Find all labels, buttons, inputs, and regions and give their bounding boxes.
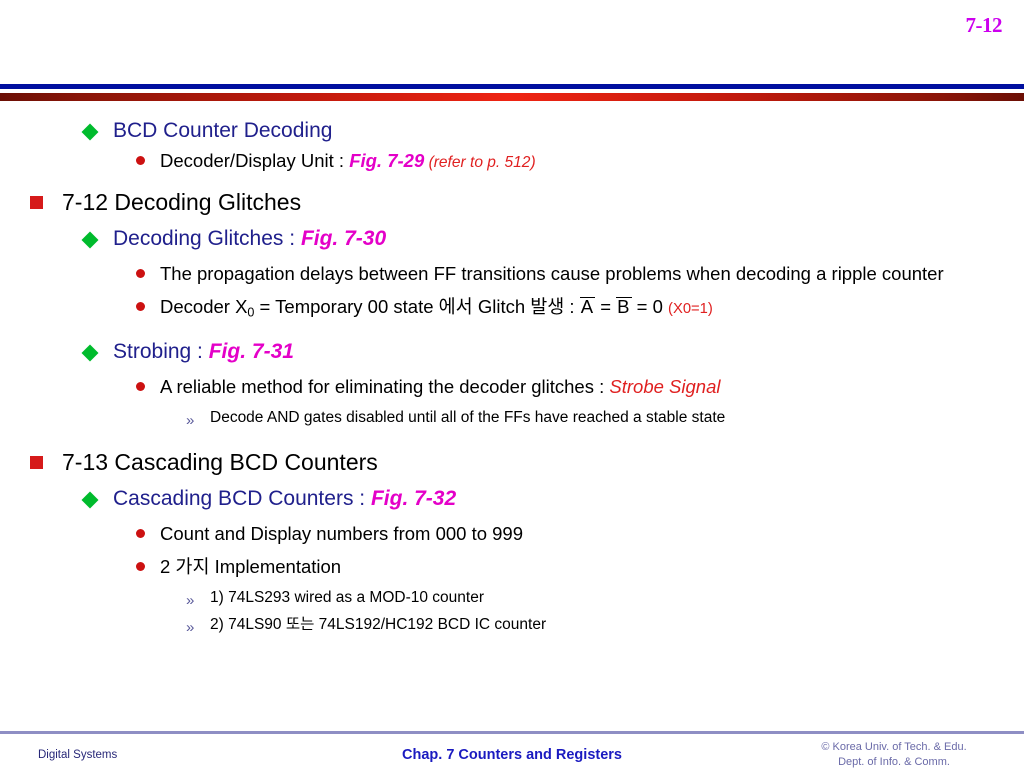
footer-copyright-line1: © Korea Univ. of Tech. & Edu. — [784, 740, 1004, 755]
reliable-method-lead: A reliable method for eliminating the de… — [160, 376, 609, 397]
diamond-bullet-icon — [84, 485, 113, 506]
decoding-glitches-lead: Decoding Glitches : — [113, 227, 301, 250]
bullet-text: Decoder X0 = Temporary 00 state 에서 Glitc… — [160, 294, 990, 326]
b-complement: B — [616, 297, 631, 317]
chevron-bullet-icon: » — [186, 587, 210, 611]
diamond-bullet-icon — [84, 338, 113, 359]
section-title-7-12: 7-12 Decoding Glitches — [62, 187, 1024, 217]
outline-subitem-label: Decoding Glitches : Fig. 7-30 — [113, 225, 1024, 253]
dot-bullet-icon — [136, 374, 160, 391]
decoder-x-lead: Decoder X — [160, 296, 247, 317]
strobing-lead: Strobing : — [113, 340, 209, 363]
square-bullet-icon — [30, 187, 62, 209]
dot-bullet-icon — [136, 294, 160, 311]
outline-item-bcd-counter-decoding: BCD Counter Decoding — [0, 117, 1024, 145]
decoder-x-mid: = Temporary 00 state 에서 Glitch 발생 : — [254, 296, 579, 317]
diamond-bullet-icon — [84, 225, 113, 246]
detail-text: 1) 74LS293 wired as a MOD-10 counter — [210, 587, 1024, 608]
chevron-bullet-icon: » — [186, 614, 210, 638]
outline-bullet-reliable-method: A reliable method for eliminating the de… — [0, 374, 1024, 399]
dot-bullet-icon — [136, 148, 160, 165]
outline-subitem-label: Decoder/Display Unit : Fig. 7-29 (refer … — [160, 148, 990, 175]
outline-bullet-propagation-delays: The propagation delays between FF transi… — [0, 261, 1024, 286]
dot-bullet-icon — [136, 261, 160, 278]
outline-subitem-decoding-glitches: Decoding Glitches : Fig. 7-30 — [0, 225, 1024, 253]
outline-bullet-two-implementations: 2 가지 Implementation — [0, 554, 1024, 579]
outline-subitem-cascading-bcd-counters: Cascading BCD Counters : Fig. 7-32 — [0, 485, 1024, 513]
refer-page-512: (refer to p. 512) — [429, 154, 536, 171]
outline-subitem-strobing: Strobing : Fig. 7-31 — [0, 338, 1024, 366]
bullet-text: The propagation delays between FF transi… — [160, 261, 990, 286]
outline-detail-74ls293: » 1) 74LS293 wired as a MOD-10 counter — [0, 587, 1024, 611]
outline-bullet-decoder-x0: Decoder X0 = Temporary 00 state 에서 Glitc… — [0, 294, 1024, 326]
section-title-7-13: 7-13 Cascading BCD Counters — [62, 447, 1024, 477]
figure-reference-7-29: Fig. 7-29 — [349, 150, 424, 171]
figure-reference-7-32: Fig. 7-32 — [371, 487, 456, 510]
detail-text: 2) 74LS90 또는 74LS192/HC192 BCD IC counte… — [210, 614, 1024, 635]
header-rule-blue — [0, 84, 1024, 89]
page-number: 7-12 — [966, 13, 1003, 38]
outline-section-7-13: 7-13 Cascading BCD Counters — [0, 447, 1024, 477]
header-rule-red — [0, 93, 1024, 101]
equals-zero: = 0 — [632, 296, 669, 317]
strobe-signal-emphasis: Strobe Signal — [609, 376, 720, 397]
equals-1: = — [595, 296, 616, 317]
bullet-text: 2 가지 Implementation — [160, 554, 990, 579]
detail-text: Decode AND gates disabled until all of t… — [210, 407, 1024, 428]
outline-subitem-label: Cascading BCD Counters : Fig. 7-32 — [113, 485, 1024, 513]
cascading-lead: Cascading BCD Counters : — [113, 487, 371, 510]
decoder-display-unit-lead: Decoder/Display Unit : — [160, 150, 349, 171]
footer-divider — [0, 731, 1024, 734]
outline-item-label: BCD Counter Decoding — [113, 117, 1024, 145]
outline-bullet-count-and-display: Count and Display numbers from 000 to 99… — [0, 521, 1024, 546]
footer-copyright: © Korea Univ. of Tech. & Edu. Dept. of I… — [784, 740, 1004, 770]
dot-bullet-icon — [136, 521, 160, 538]
bullet-text: Count and Display numbers from 000 to 99… — [160, 521, 990, 546]
x0-equals-1-note: (X0=1) — [668, 301, 713, 317]
slide-body: BCD Counter Decoding Decoder/Display Uni… — [0, 114, 1024, 638]
outline-section-7-12: 7-12 Decoding Glitches — [0, 187, 1024, 217]
chevron-bullet-icon: » — [186, 407, 210, 431]
figure-reference-7-30: Fig. 7-30 — [301, 227, 386, 250]
outline-subitem-decoder-display-unit: Decoder/Display Unit : Fig. 7-29 (refer … — [0, 148, 1024, 175]
outline-subitem-label: Strobing : Fig. 7-31 — [113, 338, 1024, 366]
outline-detail-decode-and-gates: » Decode AND gates disabled until all of… — [0, 407, 1024, 431]
diamond-bullet-icon — [84, 117, 113, 138]
square-bullet-icon — [30, 447, 62, 469]
figure-reference-7-31: Fig. 7-31 — [209, 340, 294, 363]
outline-detail-74ls90: » 2) 74LS90 또는 74LS192/HC192 BCD IC coun… — [0, 614, 1024, 638]
a-complement: A — [580, 297, 595, 317]
slide-footer: Digital Systems Chap. 7 Counters and Reg… — [0, 736, 1024, 768]
bullet-text: A reliable method for eliminating the de… — [160, 374, 990, 399]
dot-bullet-icon — [136, 554, 160, 571]
